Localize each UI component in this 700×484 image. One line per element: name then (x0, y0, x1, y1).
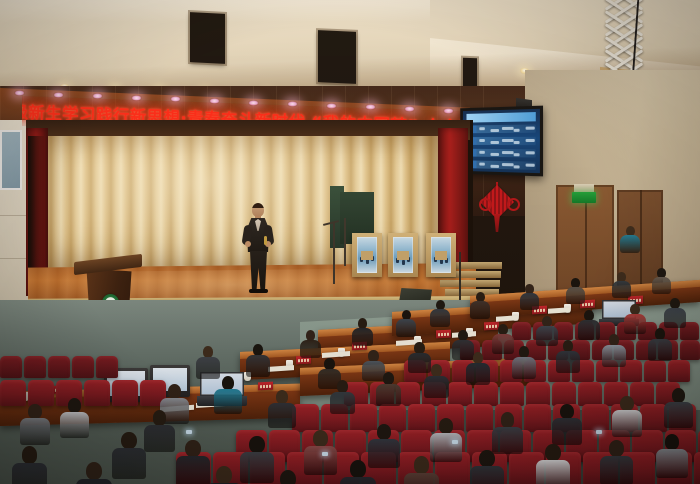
audience-member (144, 410, 175, 453)
audience-member-head (609, 440, 624, 457)
audience-member-body (600, 456, 633, 484)
auditorium-seat[interactable] (112, 380, 138, 406)
audience-member-head (431, 364, 442, 377)
audience-member-head (222, 376, 235, 390)
audience-member (656, 434, 688, 479)
audience-member (12, 446, 47, 484)
audience-member (566, 278, 585, 305)
audience-member (270, 470, 306, 484)
audience-member-body (648, 339, 672, 361)
phone-screen-icon (186, 430, 192, 434)
auditorium-seat[interactable] (668, 360, 690, 382)
audience-member-body (624, 314, 646, 334)
auditorium-seat[interactable] (582, 404, 609, 432)
audience-member-head (68, 398, 81, 413)
audience-member-head (276, 390, 289, 404)
audience-member-body (396, 319, 416, 337)
audience-member-head (185, 440, 200, 457)
auditorium-seat[interactable] (474, 382, 498, 406)
audience-member-body (512, 357, 536, 379)
audience-member-head (350, 460, 366, 478)
audience-member (612, 272, 631, 299)
audience-member-head (249, 436, 264, 453)
audience-member (620, 226, 640, 254)
audience-member (112, 432, 146, 480)
auditorium-seat[interactable] (644, 360, 666, 382)
audience-member-body (620, 235, 640, 253)
audience-member-head (337, 380, 348, 393)
audience-member-head (414, 456, 430, 474)
audience-member (536, 444, 570, 484)
audience-member-body (470, 301, 490, 319)
audience-member-body (536, 326, 558, 346)
audience-member-body (424, 376, 449, 399)
audience-member-head (479, 450, 494, 467)
audience-member-head (86, 462, 102, 480)
audience-member-head (280, 470, 296, 484)
audience-member (536, 316, 558, 347)
audience-member (396, 310, 416, 338)
audience-member-body (556, 351, 580, 373)
audience-member-body (376, 384, 401, 407)
audience-member (652, 268, 671, 295)
auditorium-seat[interactable] (524, 404, 551, 432)
audience-member-body (300, 340, 321, 359)
audience-member (60, 398, 89, 439)
audience-member-body (112, 448, 146, 479)
auditorium-seat[interactable] (28, 380, 54, 406)
audience-member-body (330, 392, 355, 415)
audience-member-body (176, 456, 210, 484)
audience-member (304, 430, 337, 476)
auditorium-seat[interactable] (96, 356, 118, 378)
audience-member (512, 346, 536, 380)
audience-member-head (377, 424, 391, 440)
audience-member-body (144, 425, 175, 453)
audience-member-body (268, 403, 296, 428)
audience-member (430, 300, 450, 328)
audience-member (340, 460, 376, 484)
audience-member-body (60, 412, 89, 438)
auditorium-seat[interactable] (72, 356, 94, 378)
audience-member-head (620, 396, 634, 411)
audience-member-body (656, 449, 688, 478)
audience-member-head (383, 372, 394, 385)
audience-member (330, 380, 355, 415)
audience-member-body (214, 389, 242, 414)
auditorium-seat[interactable] (552, 382, 576, 406)
auditorium-seat[interactable] (680, 340, 700, 360)
audience-member (552, 404, 582, 446)
audience-member-head (545, 444, 560, 461)
audience-member (556, 340, 580, 374)
audience-member-head (121, 432, 136, 449)
audience-member (404, 456, 439, 484)
audience-member (176, 440, 210, 484)
auditorium-seat[interactable] (0, 380, 26, 406)
audience-member (352, 318, 373, 347)
audience-member (206, 466, 242, 484)
audience-area (0, 0, 700, 484)
phone-screen-icon (596, 430, 602, 434)
audience-member-body (76, 479, 112, 484)
audience-member-body (304, 446, 337, 476)
phone-screen-icon (452, 440, 458, 444)
audience-member (492, 324, 514, 355)
audience-member-body (602, 345, 626, 367)
audience-member-head (324, 358, 334, 370)
audience-member (268, 390, 296, 429)
auditorium-seat[interactable] (640, 404, 667, 432)
audience-member (466, 352, 490, 386)
audience-member-head (368, 350, 378, 362)
audience-member-body (520, 293, 539, 310)
audience-member (602, 334, 626, 368)
audience-member (492, 412, 523, 455)
audience-member-body (246, 355, 270, 377)
auditorium-seat[interactable] (500, 382, 524, 406)
audience-member-head (306, 330, 315, 341)
audience-member-body (20, 418, 50, 445)
audience-member-body (612, 281, 631, 298)
audience-member-body (340, 477, 376, 484)
audience-member (470, 450, 504, 484)
audience-member (196, 346, 220, 380)
audience-member (470, 292, 490, 320)
audience-member-body (470, 466, 504, 484)
auditorium-seat[interactable] (578, 382, 602, 406)
audience-member-body (430, 309, 450, 327)
audience-member-body (12, 463, 47, 484)
auditorium-seat[interactable] (0, 356, 22, 378)
auditorium-seat[interactable] (694, 452, 700, 484)
audience-member (664, 298, 686, 329)
audience-member-head (216, 466, 232, 484)
audience-member (600, 440, 633, 484)
audience-member (240, 436, 274, 484)
judge-name-plate (436, 330, 451, 339)
audience-member (376, 372, 401, 407)
audience-member-body (536, 460, 570, 484)
audience-member-head (153, 410, 167, 426)
audience-member-body (404, 473, 439, 484)
auditorium-seat[interactable] (466, 404, 493, 432)
auditorium-seat[interactable] (512, 322, 531, 340)
audience-member-head (414, 342, 424, 354)
audience-member-head (665, 434, 679, 450)
audience-member-body (552, 418, 582, 445)
auditorium-seat[interactable] (292, 404, 319, 432)
audience-member-body (612, 410, 642, 437)
auditorium-seat[interactable] (526, 382, 550, 406)
audience-member (246, 344, 270, 378)
audience-member-head (358, 318, 367, 329)
audience-member-head (22, 446, 38, 464)
audience-member-head (439, 418, 453, 434)
auditorium-photo: 2018级新生学习践行新思想·青春奋斗新时代 “我的中国梦” 人人演讲决赛 (0, 0, 700, 484)
audience-member (612, 396, 642, 438)
auditorium-seat[interactable] (48, 356, 70, 378)
audience-member (664, 388, 693, 429)
audience-member-body (664, 308, 686, 328)
audience-member (648, 328, 672, 362)
audience-member (624, 304, 646, 335)
audience-member-body (196, 357, 220, 379)
audience-member-body (566, 287, 585, 304)
audience-member-body (492, 334, 514, 354)
audience-member-head (672, 388, 685, 403)
auditorium-seat[interactable] (24, 356, 46, 378)
audience-member-body (578, 320, 600, 340)
audience-member-head (501, 412, 515, 428)
audience-member (300, 330, 321, 359)
audience-member-head (313, 430, 328, 447)
audience-member (214, 376, 242, 415)
audience-member-body (352, 328, 373, 347)
audience-member-body (466, 363, 490, 385)
audience-member (424, 364, 449, 399)
audience-member-body (664, 402, 693, 428)
audience-member (520, 284, 539, 311)
audience-member-body (652, 277, 671, 294)
audience-member (76, 462, 112, 484)
audience-member (20, 404, 50, 446)
audience-member-head (28, 404, 42, 419)
audience-member-head (560, 404, 574, 419)
auditorium-seat[interactable] (448, 382, 472, 406)
phone-screen-icon (322, 452, 328, 456)
audience-member-head (168, 384, 181, 399)
audience-member-body (240, 452, 274, 483)
audience-member (578, 310, 600, 341)
